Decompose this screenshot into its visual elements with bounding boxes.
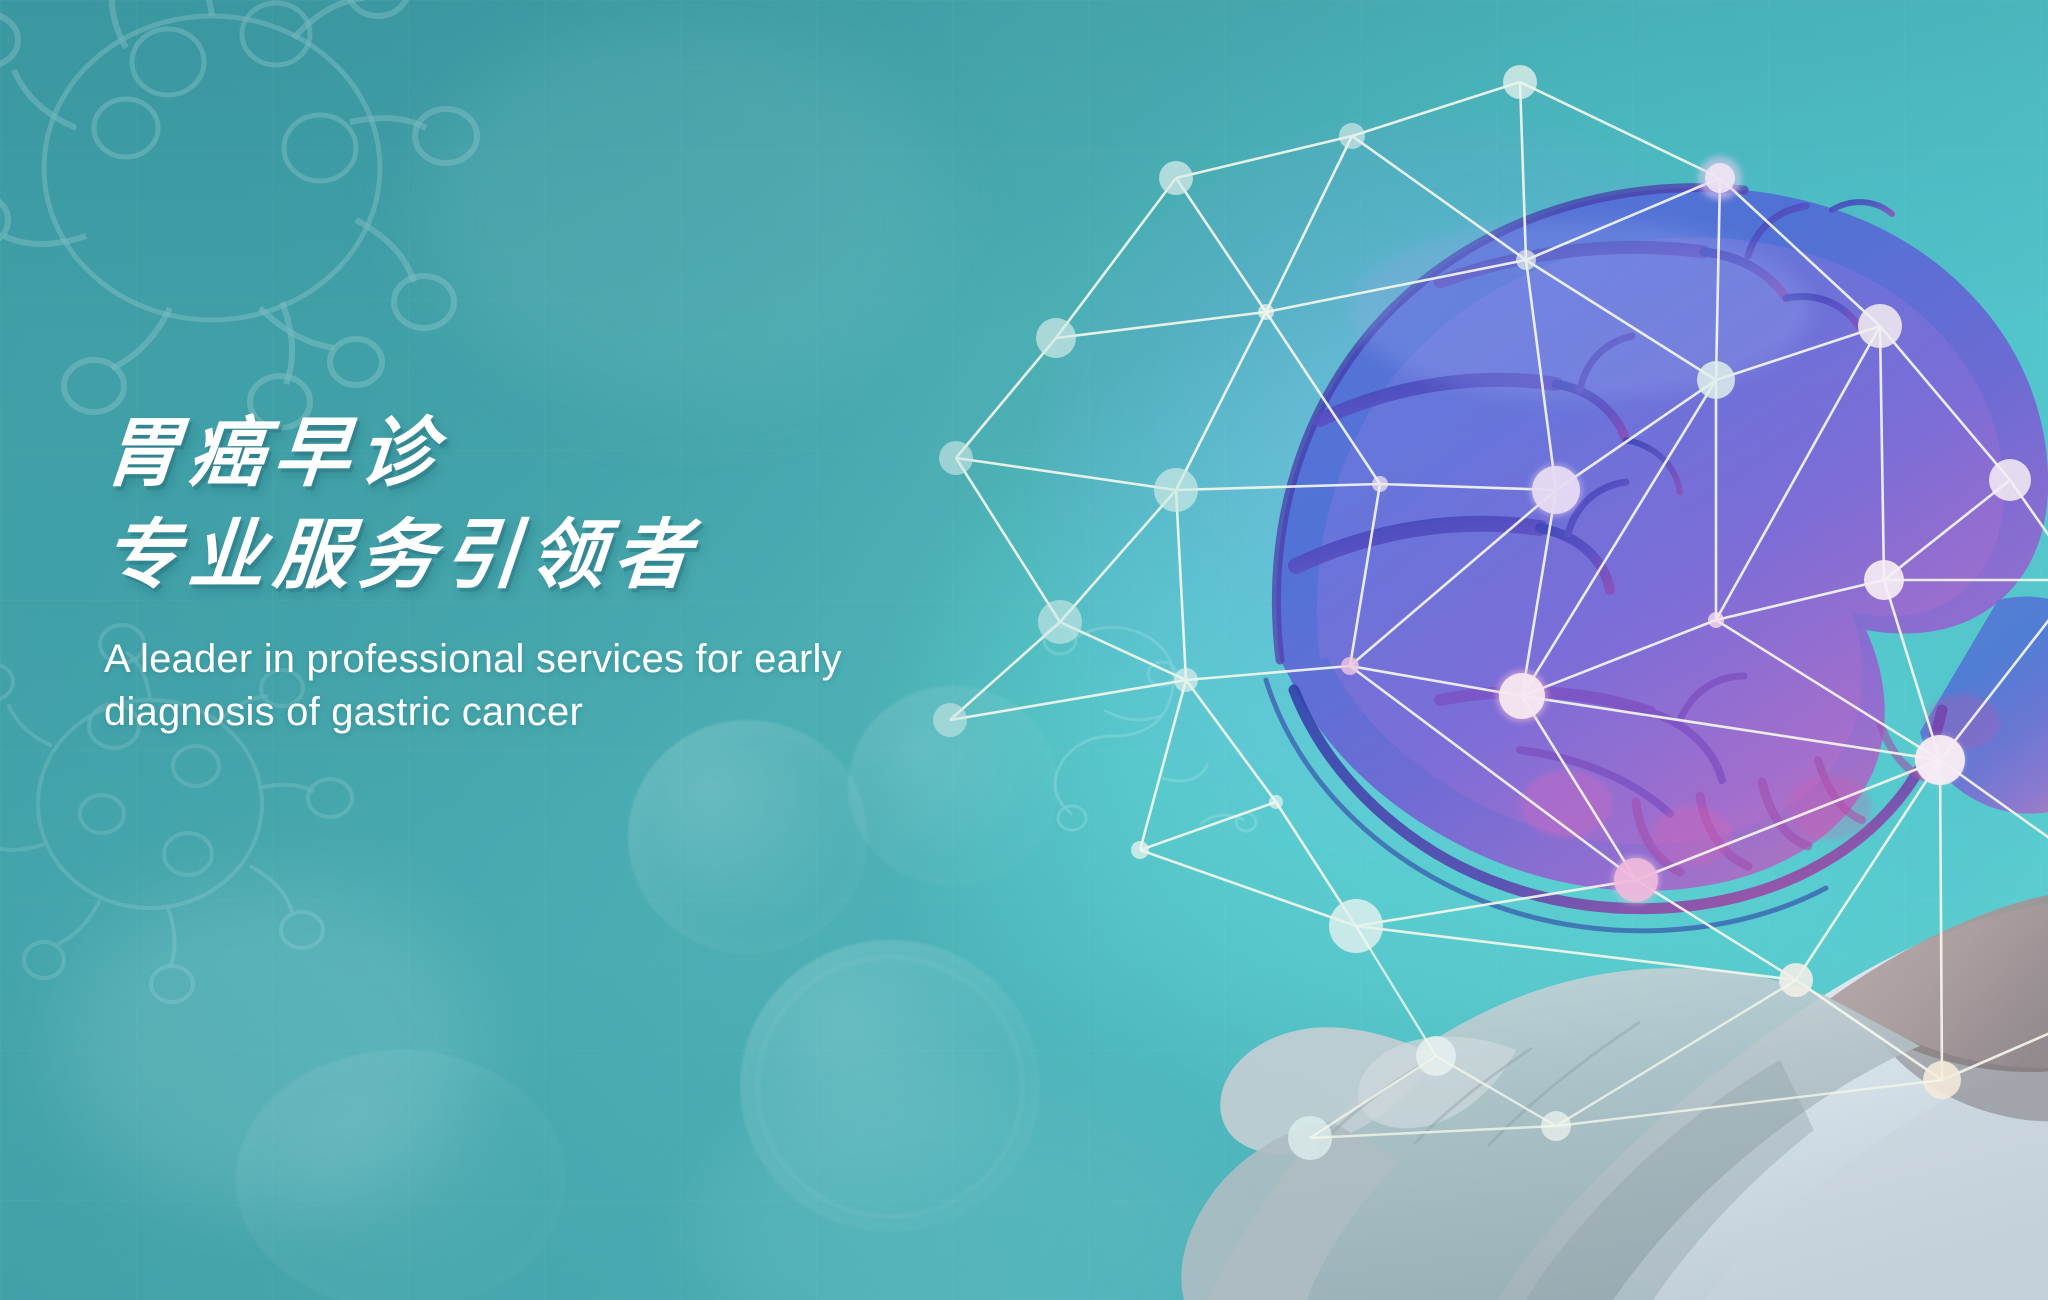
hand-graphic [1181,890,2048,1300]
headline-block: 胃癌早诊 专业服务引领者 A leader in professional se… [104,415,1124,739]
background-smudge [60,880,480,1210]
background-smudge [420,20,940,400]
headline-line-2: 专业服务引领者 [101,517,1128,593]
headline-line-1: 胃癌早诊 [101,415,1128,491]
cell-blob [628,720,868,954]
banner-root: 胃癌早诊 专业服务引领者 A leader in professional se… [0,0,2048,1300]
subtitle-line-1: A leader in professional services for ea… [104,633,904,686]
subtitle-block: A leader in professional services for ea… [104,633,1124,739]
virus-particle-icon [0,0,490,430]
subtitle-line-2: diagnosis of gastric cancer [104,686,904,739]
stomach-organ-graphic [1266,188,2048,931]
